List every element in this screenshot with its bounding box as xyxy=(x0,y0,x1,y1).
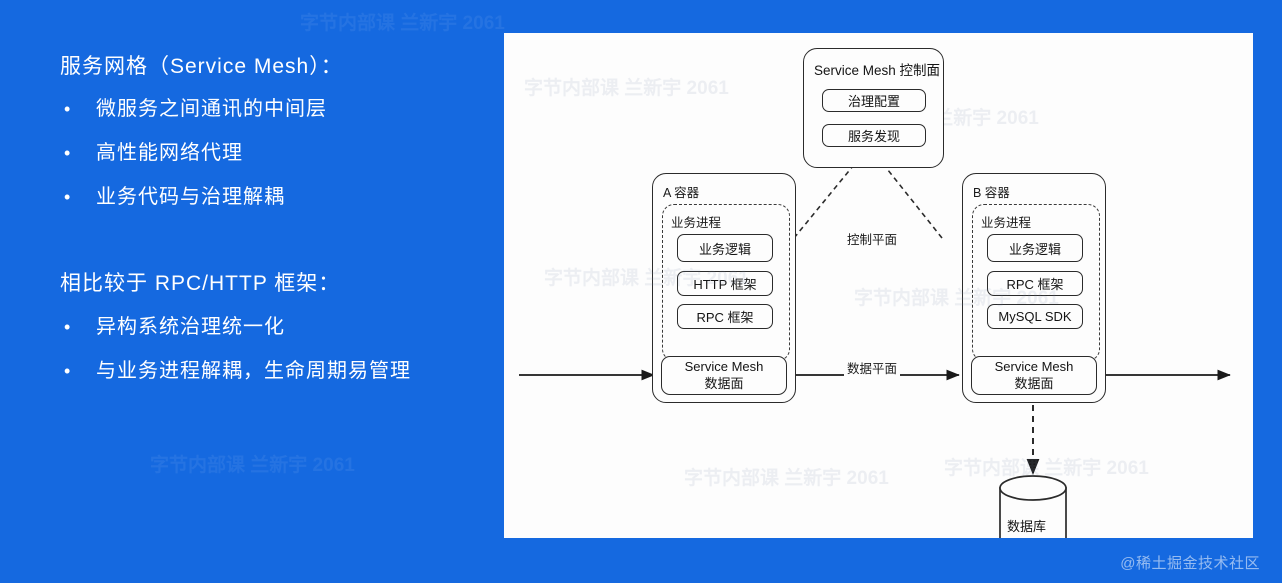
control-plane-item-discovery[interactable]: 服务发现 xyxy=(822,124,926,147)
container-b-item-rpc-framework[interactable]: RPC 框架 xyxy=(987,271,1083,296)
section2-bullet-2: • 与业务进程解耦，生命周期易管理 xyxy=(64,354,411,383)
decor-watermark: 字节内部课 兰新宇 2061 xyxy=(300,8,505,35)
container-b-item-mysql-sdk[interactable]: MySQL SDK xyxy=(987,304,1083,329)
section1-heading: 服务网格（Service Mesh）： xyxy=(60,50,343,80)
architecture-diagram-panel: 字节内部课 兰新宇 2061 字节内部课 兰新宇 2061 字节内部课 兰新宇 … xyxy=(504,33,1253,538)
sidecar-line-2: 数据面 xyxy=(704,376,743,392)
bullet-label: 业务代码与治理解耦 xyxy=(96,180,285,209)
decor-watermark: 字节内部课 兰新宇 2061 xyxy=(150,450,355,477)
section2-heading: 相比较于 RPC/HTTP 框架： xyxy=(60,267,340,297)
bullet-dot-icon: • xyxy=(64,362,78,380)
container-a-sidecar[interactable]: Service Mesh 数据面 xyxy=(661,356,787,395)
section1-bullet-2: • 高性能网络代理 xyxy=(64,136,243,165)
bullet-dot-icon: • xyxy=(64,144,78,162)
site-watermark: @稀土掘金技术社区 xyxy=(1120,552,1260,573)
bullet-dot-icon: • xyxy=(64,318,78,336)
control-plane-title: Service Mesh 控制面 xyxy=(814,59,940,79)
bullet-dot-icon: • xyxy=(64,188,78,206)
container-a-title: A 容器 xyxy=(663,182,699,201)
container-a-item-http-framework[interactable]: HTTP 框架 xyxy=(677,271,773,296)
container-a-process-title: 业务进程 xyxy=(671,212,721,231)
container-a-item-business-logic[interactable]: 业务逻辑 xyxy=(677,234,773,262)
bullet-label: 微服务之间通讯的中间层 xyxy=(96,92,327,121)
control-plane-item-config[interactable]: 治理配置 xyxy=(822,89,926,112)
container-b-sidecar[interactable]: Service Mesh 数据面 xyxy=(971,356,1097,395)
control-plane-box[interactable]: Service Mesh 控制面 治理配置 服务发现 xyxy=(803,48,944,168)
data-plane-label: 数据平面 xyxy=(844,358,900,377)
container-b-process-title: 业务进程 xyxy=(981,212,1031,231)
left-text-panel: 字节内部课 兰新宇 2061 字节内部课 兰新宇 2061 服务网格（Servi… xyxy=(0,0,504,583)
bullet-dot-icon: • xyxy=(64,100,78,118)
sidecar-line-1: Service Mesh xyxy=(995,359,1074,375)
control-plane-label: 控制平面 xyxy=(844,229,900,248)
section1-bullet-3: • 业务代码与治理解耦 xyxy=(64,180,285,209)
container-a-item-rpc-framework[interactable]: RPC 框架 xyxy=(677,304,773,329)
container-b-item-business-logic[interactable]: 业务逻辑 xyxy=(987,234,1083,262)
bullet-label: 高性能网络代理 xyxy=(96,136,243,165)
bullet-label: 与业务进程解耦，生命周期易管理 xyxy=(96,354,411,383)
sidecar-line-2: 数据面 xyxy=(1014,376,1053,392)
section1-bullet-1: • 微服务之间通讯的中间层 xyxy=(64,92,327,121)
sidecar-line-1: Service Mesh xyxy=(685,359,764,375)
container-b-title: B 容器 xyxy=(973,182,1010,201)
bullet-label: 异构系统治理统一化 xyxy=(96,310,285,339)
section2-bullet-1: • 异构系统治理统一化 xyxy=(64,310,285,339)
database-label: 数据库 xyxy=(1007,516,1046,535)
